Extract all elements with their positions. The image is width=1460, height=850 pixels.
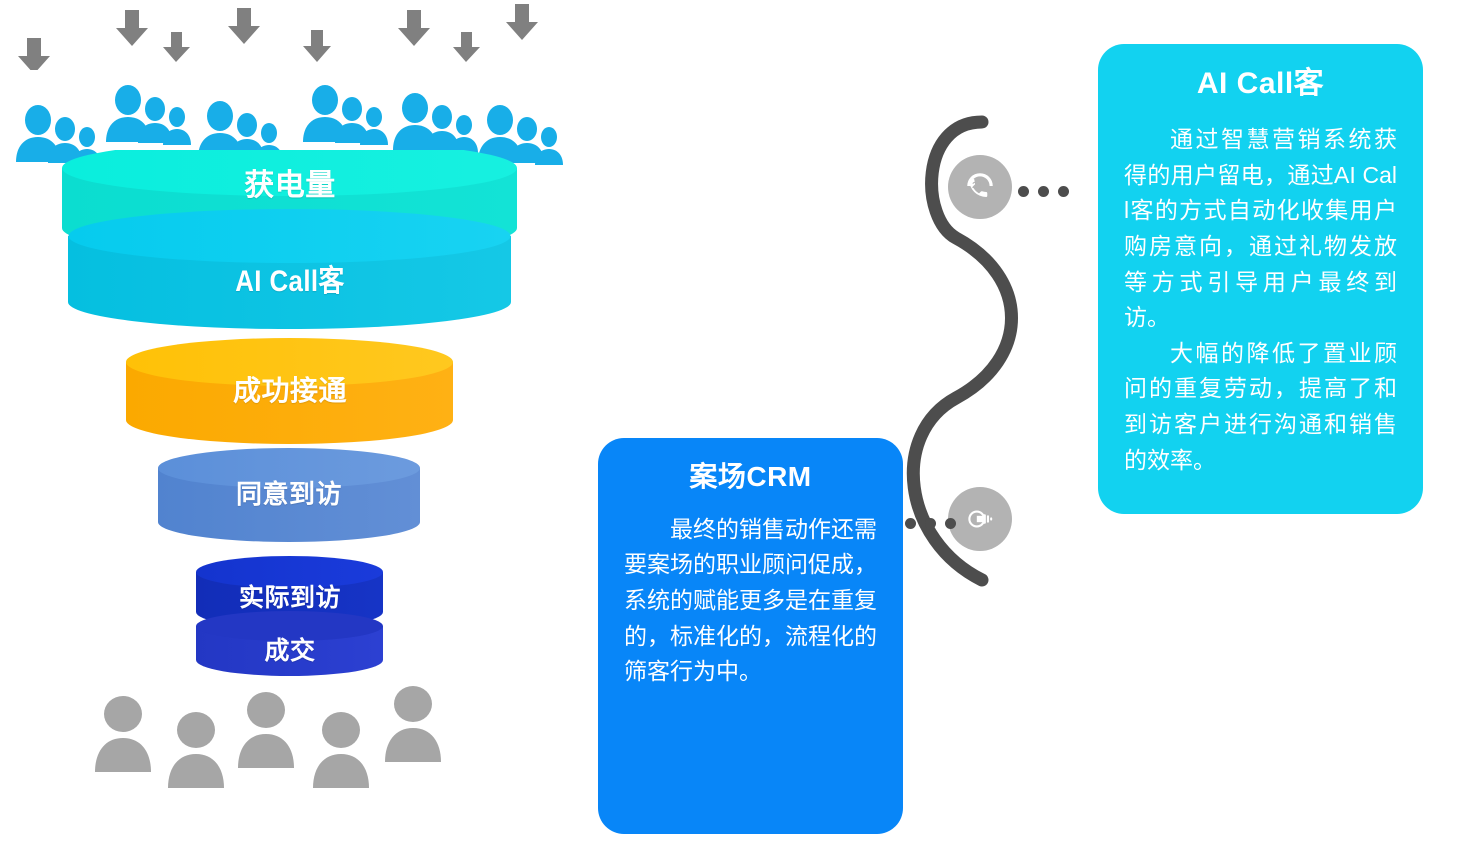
- funnel-label-3: 成功接通: [0, 369, 580, 409]
- lightbulb-icon: [963, 502, 997, 536]
- people-icon: [106, 85, 191, 145]
- crm-card-body: 最终的销售动作还需要案场的职业顾问促成，系统的赋能更多是在重复的，标准化的，流程…: [624, 512, 877, 690]
- dots-bottom: [905, 518, 956, 529]
- svg-text:24: 24: [972, 180, 982, 190]
- funnel-label-4: 同意到访: [0, 474, 578, 511]
- ai-call-card-body: 通过智慧营销系统获得的用户留电，通过AI Call客的方式自动化收集用户购房意向…: [1124, 122, 1397, 478]
- ai-call-card-title: AI Call客: [1124, 66, 1397, 102]
- person-icon: [385, 686, 441, 762]
- person-icon: [95, 696, 151, 772]
- ai-call-paragraph-1: 通过智慧营销系统获得的用户留电，通过AI Call客的方式自动化收集用户购房意向…: [1124, 122, 1397, 336]
- down-arrow-icon: [163, 32, 190, 62]
- person-icon: [313, 712, 369, 788]
- diagram-canvas: 获电量 AI Call客 成功接通 同意到访 实际到访 成交: [0, 0, 1460, 850]
- funnel-label-6: 成交: [0, 631, 580, 667]
- conversion-funnel: 获电量 AI Call客 成功接通 同意到访 实际到访 成交: [0, 150, 600, 695]
- down-arrow-icon: [18, 38, 50, 70]
- person-icon: [168, 712, 224, 788]
- down-arrow-icon: [228, 8, 260, 44]
- down-arrow-icon: [303, 30, 331, 62]
- ai-call-paragraph-2: 大幅的降低了置业顾问的重复劳动，提高了和到访客户进行沟通和销售的效率。: [1124, 336, 1397, 479]
- headset-24h-icon: 24: [963, 170, 997, 204]
- down-arrow-icon: [116, 10, 148, 46]
- funnel-label-1: 获电量: [0, 160, 580, 204]
- people-icon: [393, 93, 478, 153]
- crm-paragraph-1: 最终的销售动作还需要案场的职业顾问促成，系统的赋能更多是在重复的，标准化的，流程…: [624, 512, 877, 690]
- down-arrow-icon: [453, 32, 480, 62]
- crm-badge[interactable]: [948, 487, 1012, 551]
- down-arrow-icon: [398, 10, 430, 46]
- crm-card[interactable]: 案场CRM 最终的销售动作还需要案场的职业顾问促成，系统的赋能更多是在重复的，标…: [598, 438, 903, 834]
- ai-call-card[interactable]: AI Call客 通过智慧营销系统获得的用户留电，通过AI Call客的方式自动…: [1098, 44, 1423, 514]
- converted-customers-group: [80, 672, 500, 792]
- ai-call-badge[interactable]: 24: [948, 155, 1012, 219]
- incoming-arrows-group: [0, 0, 580, 70]
- person-icon: [238, 692, 294, 768]
- dots-top: [1018, 186, 1069, 197]
- flow-connector: 24: [900, 110, 1080, 595]
- funnel-label-5: 实际到访: [0, 578, 580, 614]
- people-icon: [303, 85, 388, 145]
- down-arrow-icon: [506, 4, 538, 40]
- crm-card-title: 案场CRM: [624, 460, 877, 494]
- funnel-label-2: AI Call客: [41, 256, 540, 300]
